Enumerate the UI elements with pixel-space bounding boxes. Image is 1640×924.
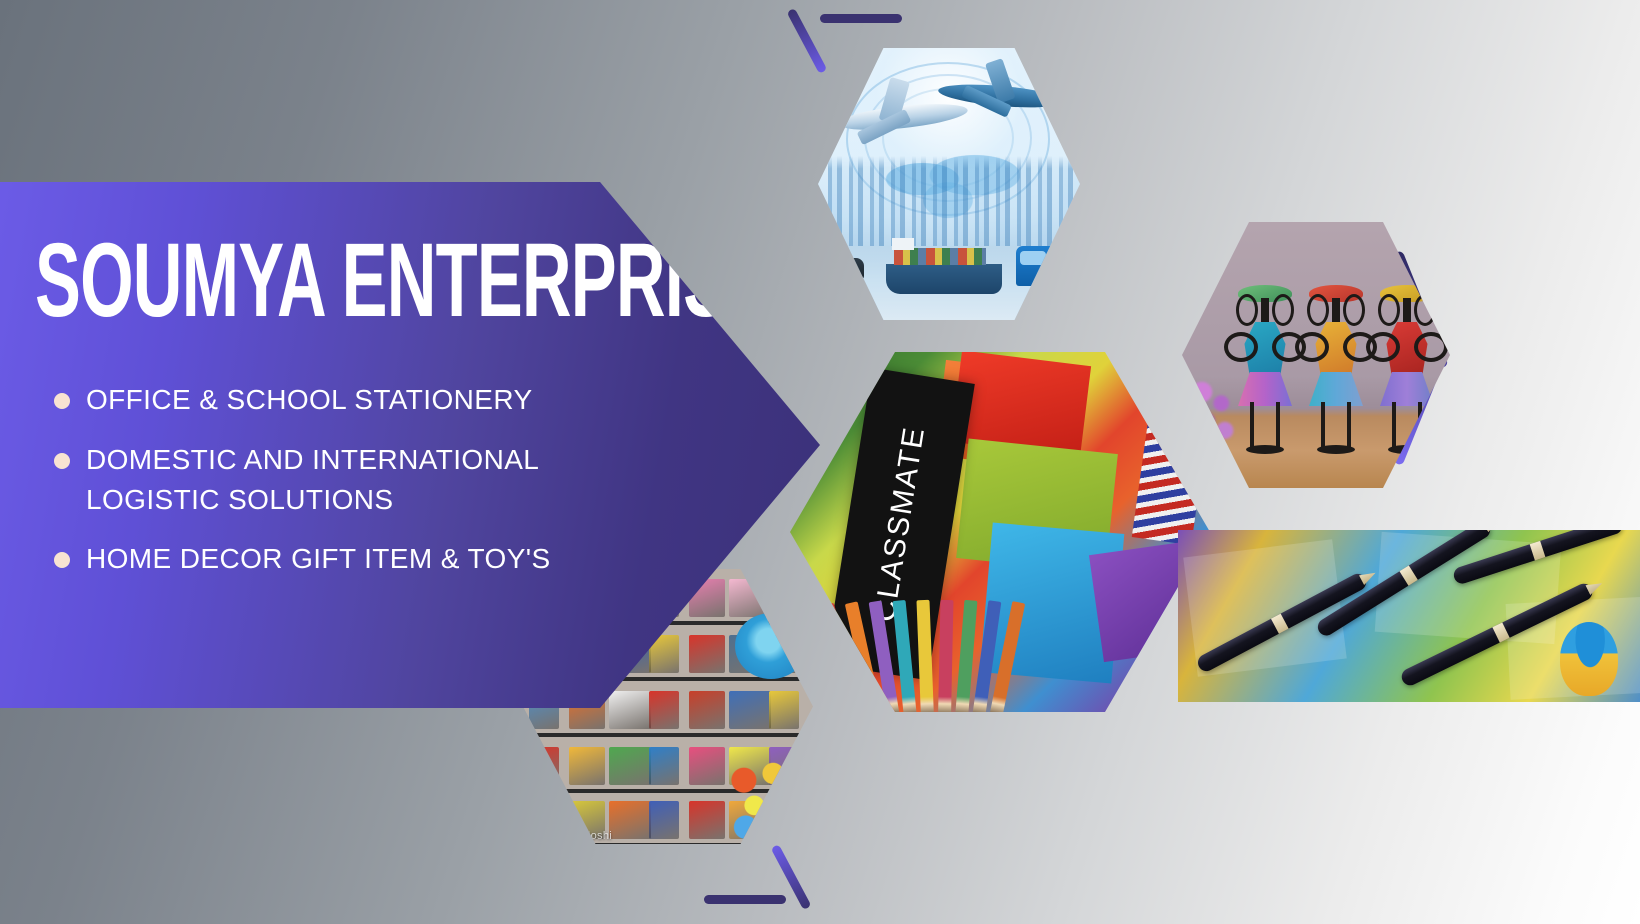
toy-box bbox=[729, 579, 771, 617]
spiral-binding bbox=[1132, 359, 1210, 546]
tugboat-icon bbox=[828, 258, 864, 280]
toy-box bbox=[689, 747, 725, 785]
pencil bbox=[916, 600, 934, 712]
list-item: HOME DECOR GIFT ITEM & TOY'S bbox=[48, 539, 568, 579]
pens-photo bbox=[1178, 530, 1640, 702]
list-item: OFFICE & SCHOOL STATIONERY bbox=[48, 380, 568, 420]
logistics-photo bbox=[818, 48, 1080, 320]
parrot-graphic bbox=[1560, 622, 1618, 696]
toy-box bbox=[689, 801, 725, 839]
toy-box bbox=[649, 747, 679, 785]
stationery-photo: CLASSMATE bbox=[790, 352, 1210, 712]
toy-box bbox=[649, 691, 679, 729]
promotional-banner: CLASSMATE Shulabh Joshi bbox=[0, 0, 1640, 924]
delivery-truck-icon bbox=[1016, 246, 1078, 286]
figurine-red bbox=[1380, 278, 1434, 454]
pencil bbox=[938, 600, 953, 712]
colored-pencils bbox=[794, 588, 1024, 712]
figurine-yellow bbox=[1309, 278, 1363, 454]
bracket-top-horizontal bbox=[820, 14, 902, 23]
list-item: DOMESTIC AND INTERNATIONAL LOGISTIC SOLU… bbox=[48, 440, 568, 520]
cargo-ship-icon bbox=[886, 264, 1002, 294]
photo-watermark: Shulabh Joshi bbox=[539, 830, 612, 842]
toy-box bbox=[729, 691, 771, 729]
toy-box bbox=[609, 747, 651, 785]
toy-shelf bbox=[523, 797, 813, 844]
toy-box bbox=[769, 579, 799, 617]
figurine-teal bbox=[1238, 278, 1292, 454]
blue-toy-disc bbox=[735, 613, 807, 679]
toy-box bbox=[769, 801, 799, 839]
toy-box bbox=[769, 691, 799, 729]
toy-box bbox=[529, 747, 559, 785]
services-list: OFFICE & SCHOOL STATIONERY DOMESTIC AND … bbox=[48, 380, 568, 599]
bracket-bottom-horizontal bbox=[704, 895, 786, 904]
toy-box bbox=[609, 691, 651, 729]
toy-box bbox=[689, 691, 725, 729]
assorted-toys-pile bbox=[725, 760, 811, 844]
toy-box bbox=[569, 747, 605, 785]
city-skyline-graphic bbox=[828, 156, 1080, 246]
toy-box bbox=[529, 801, 559, 839]
toy-box bbox=[609, 801, 651, 839]
corner-bracket-bottom-icon bbox=[700, 840, 810, 910]
toy-box bbox=[649, 801, 679, 839]
home-decor-photo bbox=[1182, 222, 1450, 488]
page-title: SOUMYA ENTERPRISES bbox=[35, 228, 818, 333]
toy-box bbox=[689, 635, 725, 673]
